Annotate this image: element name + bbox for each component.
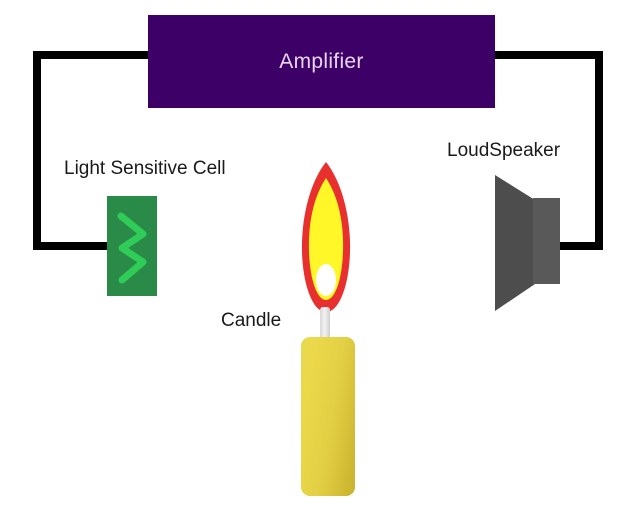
loudspeaker-label: LoudSpeaker bbox=[447, 140, 560, 162]
wire-amplifier-left-top bbox=[33, 51, 151, 59]
candle-label: Candle bbox=[221, 310, 281, 332]
wire-left-bottom-to-cell bbox=[33, 242, 111, 250]
diagram-canvas: Amplifier Light Sensitive Cell LoudSpeak… bbox=[0, 0, 640, 512]
loudspeaker-icon bbox=[493, 172, 565, 314]
amplifier-label: Amplifier bbox=[279, 50, 363, 74]
candle-body bbox=[301, 337, 355, 496]
amplifier-block: Amplifier bbox=[148, 15, 495, 108]
resistor-zigzag-icon bbox=[107, 196, 157, 296]
wire-amplifier-right-top bbox=[493, 51, 603, 59]
light-sensitive-cell-label: Light Sensitive Cell bbox=[64, 158, 226, 180]
candle-flame-icon bbox=[295, 160, 357, 320]
wire-left-vertical bbox=[33, 51, 41, 250]
wire-right-vertical bbox=[595, 51, 603, 250]
